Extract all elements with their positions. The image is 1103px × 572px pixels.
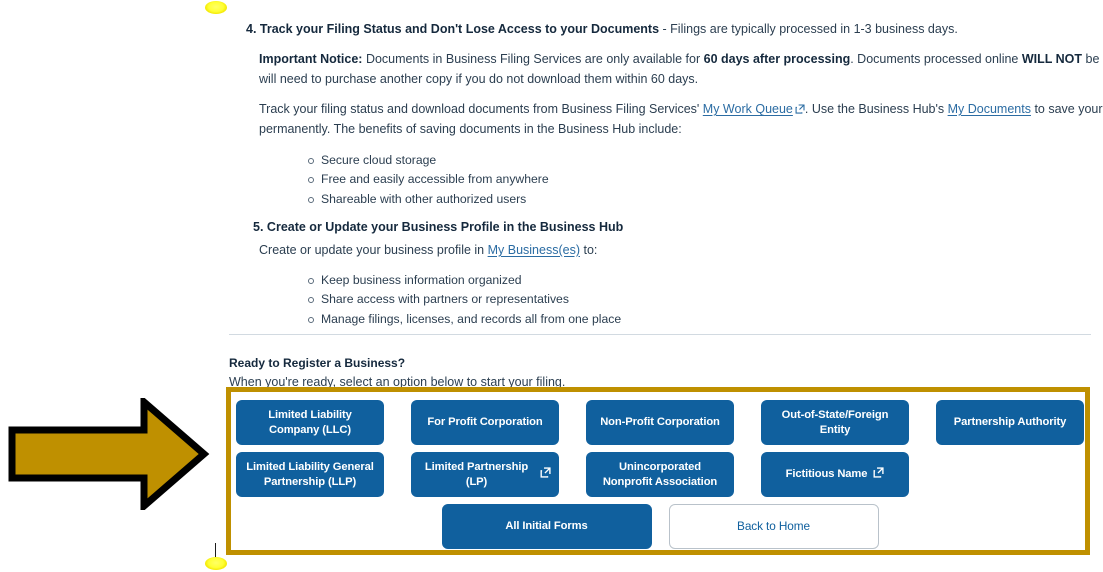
track-status-text-c: to save your documents: [1031, 102, 1103, 116]
business-profile-paragraph: Create or update your business profile i…: [259, 241, 597, 260]
button-label: For Profit Corporation: [427, 415, 542, 430]
section-4-title: Track your Filing Status and Don't Lose …: [260, 22, 659, 36]
filing-button-partnership-authority[interactable]: Partnership Authority: [936, 400, 1084, 445]
section-4-subtitle: - Filings are typically processed in 1-3…: [659, 22, 958, 36]
important-notice-text-a: Documents in Business Filing Services ar…: [362, 52, 703, 66]
filing-button-llp[interactable]: Limited Liability General Partnership (L…: [236, 452, 384, 497]
filing-button-fictitious-name[interactable]: Fictitious Name: [761, 452, 909, 497]
business-profile-text-b: to:: [580, 243, 597, 257]
important-notice-text-c: be mailed or emailed and y: [1082, 52, 1103, 66]
button-label: Back to Home: [737, 519, 810, 534]
list-item: Manage filings, licenses, and records al…: [307, 310, 621, 329]
list-item: Shareable with other authorized users: [307, 190, 549, 209]
gold-right-arrow-annotation: [4, 398, 212, 510]
important-notice-bold-a: 60 days after processing: [704, 52, 851, 66]
section-4-bullet-list: Secure cloud storage Free and easily acc…: [307, 151, 549, 209]
button-label: Out-of-State/Foreign Entity: [769, 408, 901, 437]
filing-buttons-row-1: Limited Liability Company (LLC) For Prof…: [236, 400, 1084, 445]
track-status-paragraph-line1: Track your filing status and download do…: [259, 100, 1103, 120]
list-item: Keep business information organized: [307, 271, 621, 290]
filing-button-limited-partnership[interactable]: Limited Partnership (LP): [411, 452, 559, 497]
button-label: Fictitious Name: [786, 467, 868, 482]
track-status-paragraph-line2: permanently. The benefits of saving docu…: [259, 120, 682, 139]
important-notice-bold-b: WILL NOT: [1022, 52, 1082, 66]
gold-right-arrow-icon: [4, 398, 212, 510]
filing-button-out-of-state-foreign-entity[interactable]: Out-of-State/Foreign Entity: [761, 400, 909, 445]
important-notice-paragraph-line2: will need to purchase another copy if yo…: [259, 70, 698, 89]
important-notice-lead: Important Notice:: [259, 52, 362, 66]
list-item: Free and easily accessible from anywhere: [307, 170, 549, 189]
section-4-heading: 4. Track your Filing Status and Don't Lo…: [246, 21, 958, 38]
my-work-queue-link[interactable]: My Work Queue: [703, 102, 793, 116]
my-businesses-link[interactable]: My Business(es): [488, 243, 580, 257]
filing-button-unincorporated-nonprofit-association[interactable]: Unincorporated Nonprofit Association: [586, 452, 734, 497]
button-label: Non-Profit Corporation: [600, 415, 720, 430]
filing-options-grid: Limited Liability Company (LLC) For Prof…: [236, 400, 1084, 556]
highlight-marker-bottom: [205, 557, 227, 570]
business-profile-text-a: Create or update your business profile i…: [259, 243, 488, 257]
ready-to-register-title: Ready to Register a Business?: [229, 356, 405, 370]
external-link-icon: [795, 101, 805, 120]
external-link-icon: [540, 467, 551, 483]
all-initial-forms-button[interactable]: All Initial Forms: [442, 504, 652, 549]
section-5-number: 5.: [253, 220, 263, 234]
back-to-home-button[interactable]: Back to Home: [669, 504, 879, 549]
section-5-heading: 5. Create or Update your Business Profil…: [253, 219, 623, 236]
important-notice-paragraph-line1: Important Notice: Documents in Business …: [259, 50, 1103, 69]
section-divider: [229, 334, 1091, 335]
section-4-number: 4.: [246, 22, 256, 36]
filing-button-for-profit-corporation[interactable]: For Profit Corporation: [411, 400, 559, 445]
list-item: Share access with partners or representa…: [307, 290, 621, 309]
track-status-text-a: Track your filing status and download do…: [259, 102, 703, 116]
button-label: Limited Liability Company (LLC): [244, 408, 376, 437]
button-label: Unincorporated Nonprofit Association: [594, 460, 726, 489]
section-5-title: Create or Update your Business Profile i…: [267, 220, 623, 234]
filing-buttons-row-3: All Initial Forms Back to Home: [236, 504, 1084, 549]
filing-button-non-profit-corporation[interactable]: Non-Profit Corporation: [586, 400, 734, 445]
highlight-marker-top: [205, 1, 227, 14]
external-link-icon: [873, 467, 884, 483]
my-documents-link[interactable]: My Documents: [948, 102, 1031, 116]
button-label: Limited Liability General Partnership (L…: [244, 460, 376, 489]
button-label: Partnership Authority: [954, 415, 1066, 430]
button-label: All Initial Forms: [505, 519, 587, 534]
filing-button-llc[interactable]: Limited Liability Company (LLC): [236, 400, 384, 445]
important-notice-text-b: . Documents processed online: [850, 52, 1022, 66]
track-status-text-b: . Use the Business Hub's: [805, 102, 948, 116]
button-label: Limited Partnership (LP): [419, 460, 534, 489]
filing-buttons-row-2: Limited Liability General Partnership (L…: [236, 452, 1084, 497]
list-item: Secure cloud storage: [307, 151, 549, 170]
section-5-bullet-list: Keep business information organized Shar…: [307, 271, 621, 329]
